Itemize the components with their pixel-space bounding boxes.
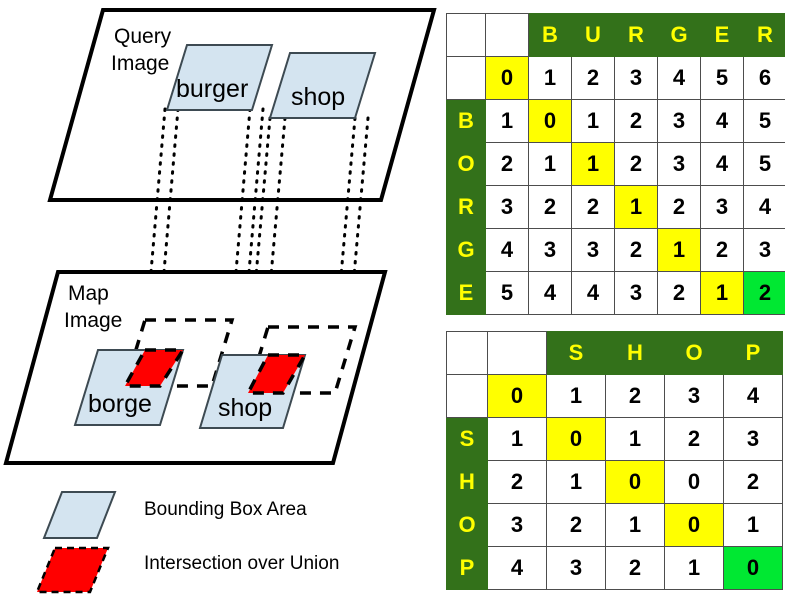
matrix-cell: 2 <box>606 375 665 418</box>
matrix-cell: 5 <box>744 100 785 143</box>
matrix-cell: 1 <box>606 504 665 547</box>
column-header-cell: P <box>724 332 783 375</box>
row-header-cell: E <box>447 272 486 315</box>
matrix-cell: 0 <box>488 375 547 418</box>
table-row: O2112345 <box>447 143 785 186</box>
matrix-cell: 2 <box>744 272 785 315</box>
matrix-cell: 2 <box>658 272 701 315</box>
matrix-cell: 2 <box>547 504 606 547</box>
matrix-cell: 2 <box>615 229 658 272</box>
matrix-cell: 3 <box>658 143 701 186</box>
matrix-cell: 3 <box>572 229 615 272</box>
figure-root: Query Image burger shop Map Image <box>0 0 785 602</box>
column-header-cell: H <box>606 332 665 375</box>
legend-iou-swatch <box>37 548 108 592</box>
map-image-plane <box>6 272 385 463</box>
matrix-cell: 2 <box>665 418 724 461</box>
matrix-cell: 1 <box>701 272 744 315</box>
table-row: R3221234 <box>447 186 785 229</box>
table-row: E5443212 <box>447 272 785 315</box>
matrix-cell: 3 <box>486 186 529 229</box>
corner-empty-cell <box>447 14 486 57</box>
edit-distance-table-burger: BURGER0123456B1012345O2112345R3221234G43… <box>446 13 785 315</box>
table-row: H21002 <box>447 461 783 504</box>
corner-empty-cell <box>486 14 529 57</box>
corner-empty-cell <box>488 332 547 375</box>
query-image-label-line1: Query <box>114 25 172 48</box>
legend-bounding-box-swatch <box>44 492 115 538</box>
map-box-borge-label: borge <box>88 390 152 418</box>
matrix-cell: 1 <box>529 143 572 186</box>
matrix-cell: 0 <box>606 461 665 504</box>
row-header-cell: S <box>447 418 488 461</box>
row-header-cell: B <box>447 100 486 143</box>
matrix-cell: 2 <box>486 143 529 186</box>
matrix-cell: 1 <box>488 418 547 461</box>
matrix-cell: 3 <box>615 272 658 315</box>
row-header-cell: O <box>447 504 488 547</box>
matrix-cell: 2 <box>488 461 547 504</box>
matrix-cell: 5 <box>701 57 744 100</box>
matrix-cell: 1 <box>547 461 606 504</box>
table-row: O32101 <box>447 504 783 547</box>
matrix-cell: 2 <box>615 143 658 186</box>
legend-iou-label: Intersection over Union <box>144 553 339 575</box>
table-row: 01234 <box>447 375 783 418</box>
matrix-cell: 1 <box>529 57 572 100</box>
query-box-shop-label: shop <box>291 83 345 111</box>
table-row: G4332123 <box>447 229 785 272</box>
column-header-cell: S <box>547 332 606 375</box>
matrix-cell: 3 <box>488 504 547 547</box>
matrix-cell: 3 <box>744 229 785 272</box>
table-row: BURGER <box>447 14 785 57</box>
matrix-cell: 3 <box>529 229 572 272</box>
matrix-cell: 1 <box>572 100 615 143</box>
matrix-cell: 4 <box>701 143 744 186</box>
table-row: SHOP <box>447 332 783 375</box>
column-header-cell: U <box>572 14 615 57</box>
matrix-cell: 6 <box>744 57 785 100</box>
matrix-cell: 5 <box>486 272 529 315</box>
map-image-label-line2: Image <box>64 309 122 332</box>
matrix-cell: 0 <box>665 461 724 504</box>
matrix-cell: 1 <box>665 547 724 590</box>
matrix-cell: 4 <box>744 186 785 229</box>
matrix-cell: 3 <box>547 547 606 590</box>
matrix-cell: 0 <box>665 504 724 547</box>
matrix-cell: 3 <box>658 100 701 143</box>
query-box-burger-label: burger <box>176 75 248 103</box>
matrix-cell: 1 <box>547 375 606 418</box>
matrix-cell: 2 <box>572 57 615 100</box>
column-header-cell: O <box>665 332 724 375</box>
matrix-cell: 0 <box>529 100 572 143</box>
matrix-cell: 2 <box>701 229 744 272</box>
matrix-cell: 2 <box>724 461 783 504</box>
table-row: B1012345 <box>447 100 785 143</box>
matrix-cell: 5 <box>744 143 785 186</box>
table-row: S10123 <box>447 418 783 461</box>
matrix-cell: 3 <box>724 418 783 461</box>
matrix-cell: 4 <box>488 547 547 590</box>
matrix-cell: 2 <box>658 186 701 229</box>
matrix-cell: 1 <box>658 229 701 272</box>
column-header-cell: G <box>658 14 701 57</box>
row-header-cell: P <box>447 547 488 590</box>
matrix-cell: 4 <box>701 100 744 143</box>
table-row: P43210 <box>447 547 783 590</box>
matrix-cell: 0 <box>547 418 606 461</box>
row-header-cell: H <box>447 461 488 504</box>
empty-row-header-cell <box>447 375 488 418</box>
matrix-cell: 3 <box>701 186 744 229</box>
matrix-cell: 1 <box>724 504 783 547</box>
matrix-cell: 2 <box>572 186 615 229</box>
matrix-cell: 4 <box>572 272 615 315</box>
matrix-cell: 3 <box>615 57 658 100</box>
column-header-cell: R <box>744 14 785 57</box>
matrix-cell: 3 <box>665 375 724 418</box>
row-header-cell: R <box>447 186 486 229</box>
column-header-cell: R <box>615 14 658 57</box>
column-header-cell: E <box>701 14 744 57</box>
matrix-cell: 2 <box>606 547 665 590</box>
matrix-cell: 4 <box>724 375 783 418</box>
matrix-cell: 1 <box>606 418 665 461</box>
table-burger-body: BURGER0123456B1012345O2112345R3221234G43… <box>447 14 785 315</box>
table-shop-body: SHOP01234S10123H21002O32101P43210 <box>447 332 783 590</box>
edit-distance-table-shop: SHOP01234S10123H21002O32101P43210 <box>446 331 783 590</box>
matrix-cell: 1 <box>572 143 615 186</box>
matrix-cell: 0 <box>724 547 783 590</box>
table-row: 0123456 <box>447 57 785 100</box>
matrix-cell: 4 <box>658 57 701 100</box>
column-header-cell: B <box>529 14 572 57</box>
matrix-cell: 1 <box>615 186 658 229</box>
corner-empty-cell <box>447 332 488 375</box>
matrix-cell: 2 <box>529 186 572 229</box>
row-header-cell: O <box>447 143 486 186</box>
matrix-cell: 1 <box>486 100 529 143</box>
matrix-cell: 2 <box>615 100 658 143</box>
row-header-cell: G <box>447 229 486 272</box>
map-box-shop-label: shop <box>218 394 272 422</box>
query-image-label-line2: Image <box>111 52 169 75</box>
matrix-cell: 4 <box>486 229 529 272</box>
matrix-cell: 4 <box>529 272 572 315</box>
map-image-label-line1: Map <box>68 282 109 305</box>
matrix-cell: 0 <box>486 57 529 100</box>
legend-bounding-box-label: Bounding Box Area <box>144 499 307 521</box>
empty-row-header-cell <box>447 57 486 100</box>
